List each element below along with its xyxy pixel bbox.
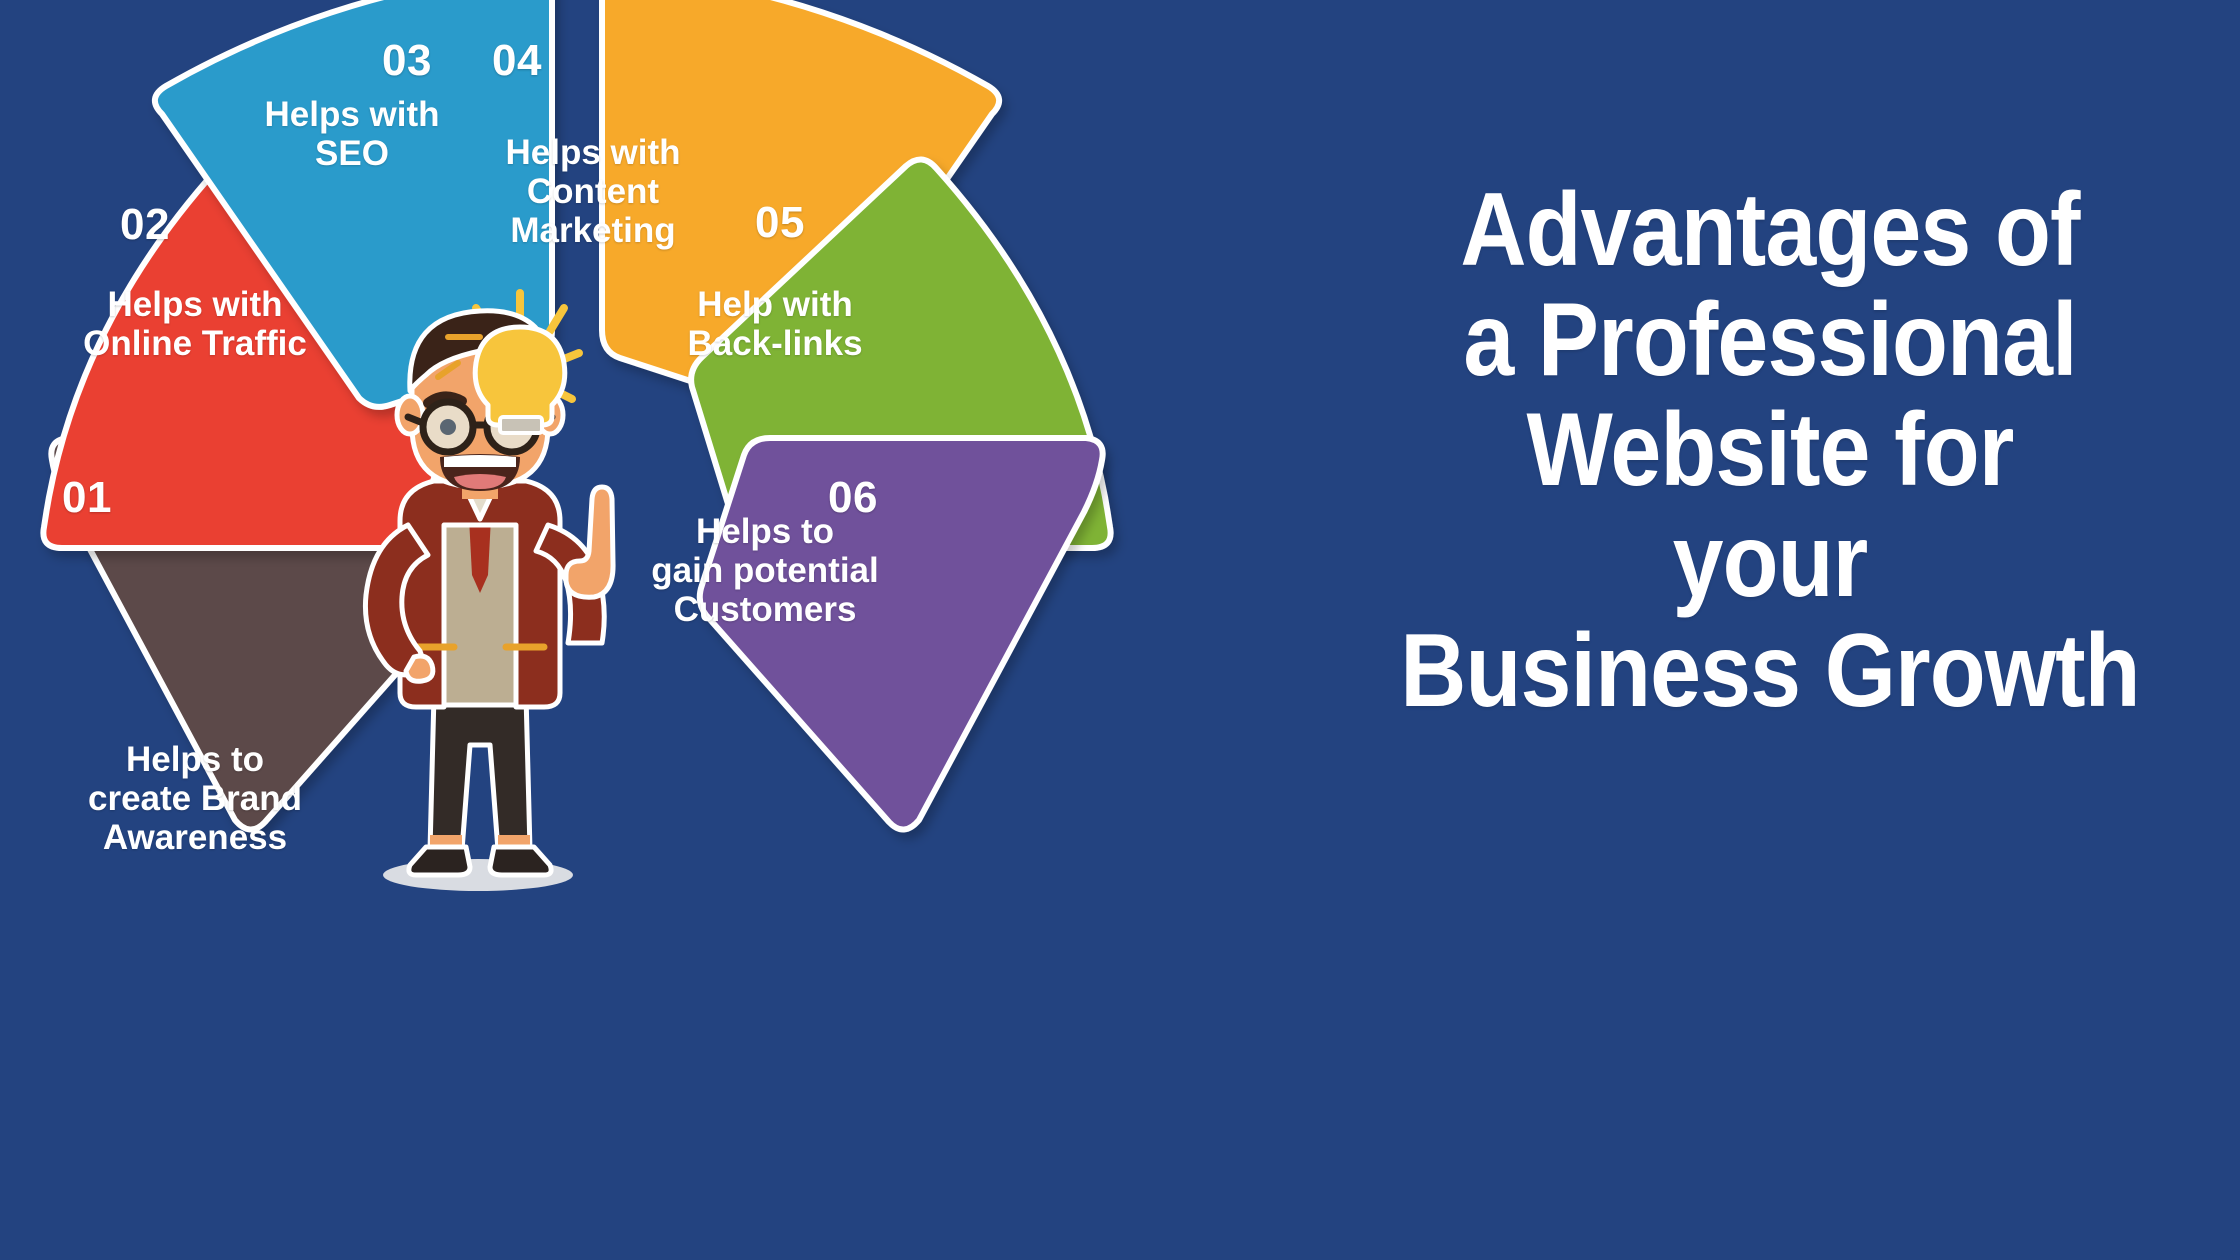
- radial-wedge-diagram: 01 02 03 04 05 06 Helps to create Brand …: [0, 0, 1340, 1260]
- page-title: Advantages of a Professional Website for…: [1383, 175, 2157, 726]
- infographic-canvas: 01 02 03 04 05 06 Helps to create Brand …: [0, 0, 2240, 1260]
- teeth: [444, 455, 516, 467]
- businessman-illustration: [330, 275, 660, 895]
- left-hand: [406, 656, 433, 681]
- left-shoe: [409, 847, 470, 875]
- lightbulb-base: [500, 417, 542, 433]
- title-line-3: Website for: [1383, 395, 2157, 505]
- wedge-shape-06[interactable]: [700, 438, 1103, 830]
- right-shoe: [490, 847, 551, 875]
- title-line-5: Business Growth: [1383, 616, 2157, 726]
- title-line-1: Advantages of: [1383, 175, 2157, 285]
- title-line-2: a Professional: [1383, 285, 2157, 395]
- title-line-4: your: [1383, 506, 2157, 616]
- trousers: [430, 695, 530, 850]
- lightbulb-icon: [475, 327, 565, 433]
